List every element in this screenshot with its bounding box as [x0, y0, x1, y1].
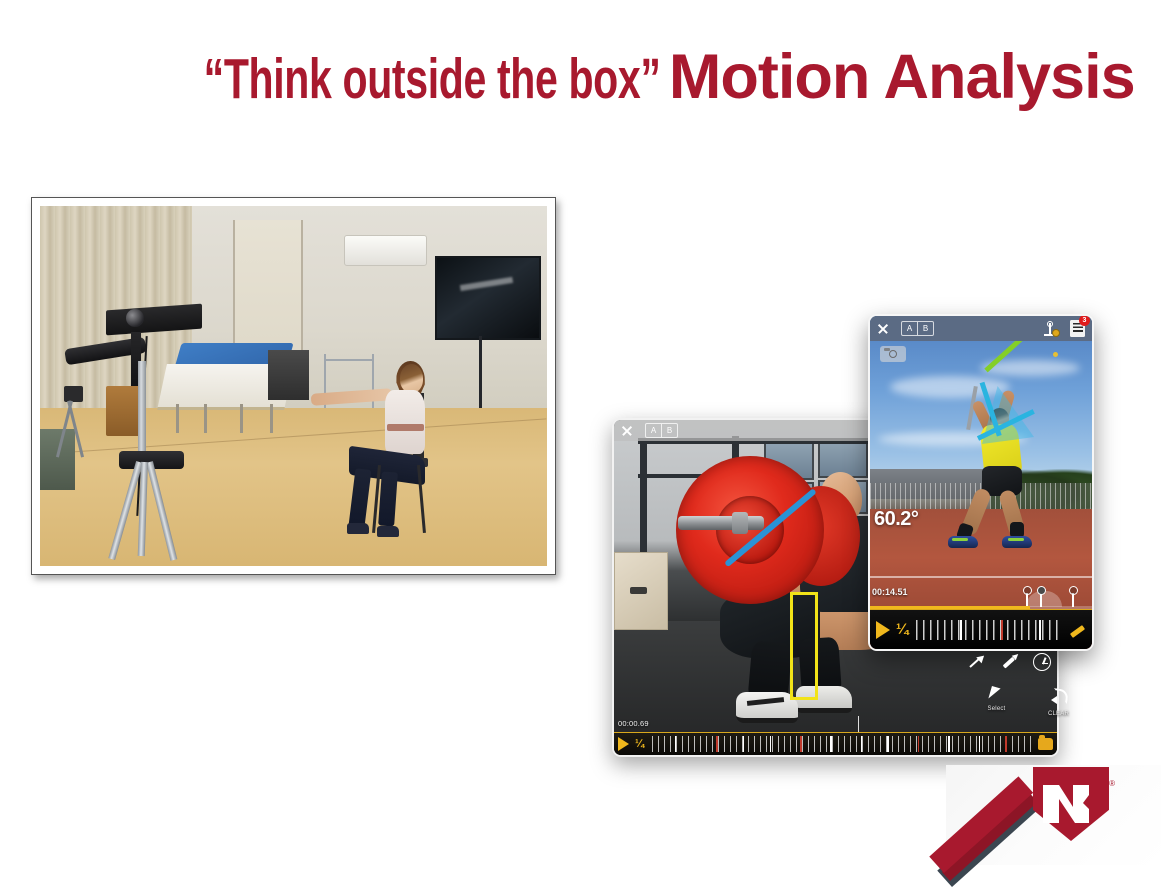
lifter-shoe [736, 692, 798, 723]
title-main-part: Motion Analysis [669, 46, 1135, 109]
ab-compare-toggle[interactable]: A B [901, 321, 934, 336]
pencil-icon[interactable] [1069, 623, 1086, 637]
squat-speed-label[interactable]: ¼ [635, 738, 644, 750]
barbell-collar [732, 512, 748, 534]
pen-tool[interactable] [997, 653, 1023, 671]
secondary-tripod [55, 386, 90, 458]
equipment-cabinet [268, 350, 309, 400]
squat-timestamp: 00:00.69 [618, 719, 649, 728]
track-lane-line [870, 576, 1092, 578]
clear-tool-label: CLEAR [1039, 711, 1079, 717]
arrow-tool[interactable] [964, 653, 990, 671]
ab-compare-toggle[interactable]: A B [645, 423, 678, 438]
tool-palette-row-primary [958, 653, 1094, 671]
notification-badge: 3 [1079, 315, 1090, 326]
air-conditioner [344, 235, 427, 266]
cursor-icon [990, 687, 1004, 704]
angle-measurement-readout: 60.2° [874, 508, 918, 531]
cloud [890, 376, 1010, 398]
angle-tool[interactable] [1029, 653, 1055, 671]
running-analysis-window[interactable]: 60.2° 00:14.51 A B 3 [868, 314, 1094, 651]
participant-shoe [377, 526, 399, 537]
participant-head [400, 364, 423, 393]
notes-document-icon[interactable]: 3 [1070, 320, 1085, 337]
tool-palette-row-secondary: Select CLEAR [958, 687, 1094, 717]
university-logo: ® [946, 765, 1161, 865]
close-icon[interactable] [621, 425, 633, 437]
video-analysis-app-stack: A B Squat 00:00.69 ¼ [606, 310, 1106, 765]
ab-toggle-b[interactable]: B [918, 322, 933, 335]
running-timeline-ruler[interactable] [916, 620, 1063, 640]
trademark-symbol: ® [1109, 779, 1115, 788]
yellow-selection-box-annotation[interactable] [790, 592, 818, 700]
squat-playhead[interactable] [858, 716, 860, 732]
runner-shoe [1002, 536, 1032, 548]
select-tool-label: Select [974, 706, 1020, 712]
motion-capture-lab-photo [40, 206, 547, 566]
sky-marker-dot [1053, 352, 1058, 357]
angle-tool-icon [1033, 653, 1051, 671]
participant-shoe [347, 523, 369, 534]
ab-toggle-a[interactable]: A [902, 322, 918, 335]
camera-icon[interactable] [880, 346, 906, 362]
pen-tool-icon [1001, 653, 1019, 671]
logo-n-letter [1039, 783, 1103, 831]
running-timeline-bar[interactable]: ¼ [870, 609, 1092, 649]
squat-timeline-ruler[interactable] [652, 736, 1032, 752]
play-icon[interactable] [876, 621, 890, 639]
page-title: “Think outside the box”Motion Analysis [0, 46, 1161, 109]
ab-toggle-b[interactable]: B [662, 424, 677, 437]
ab-toggle-a[interactable]: A [646, 424, 662, 437]
marker-pin[interactable] [1026, 593, 1028, 607]
participant-belt [387, 424, 425, 431]
running-video-frame[interactable]: 60.2° 00:14.51 [870, 316, 1092, 649]
running-window-titlebar: A B 3 [870, 316, 1092, 341]
camera-lens [126, 309, 144, 327]
exam-bed-legs [172, 404, 278, 433]
marker-pin[interactable] [1040, 593, 1042, 607]
arrow-tool-icon [968, 653, 986, 671]
folder-icon[interactable] [1038, 738, 1053, 750]
select-tool[interactable]: Select [974, 687, 1020, 712]
close-icon[interactable] [877, 323, 889, 335]
title-quoted-part: “Think outside the box” [204, 51, 661, 108]
barbell-sleeve [678, 516, 764, 530]
undo-icon [1051, 687, 1067, 703]
play-icon[interactable] [618, 737, 629, 751]
red-weight-plate [676, 456, 824, 604]
tripod-column [138, 361, 146, 455]
participant-torso [385, 390, 426, 455]
measure-tool-icon[interactable] [1044, 321, 1060, 337]
marker-pin[interactable] [1072, 593, 1074, 607]
squat-timeline-bar[interactable]: ¼ [614, 732, 1057, 755]
clear-tool[interactable]: CLEAR [1039, 687, 1079, 717]
annotation-tool-palette[interactable]: Select CLEAR [958, 653, 1094, 728]
running-timestamp: 00:14.51 [872, 587, 908, 597]
running-speed-label[interactable]: ¼ [896, 621, 908, 638]
lab-photo-frame [31, 197, 556, 575]
wall-monitor [435, 256, 540, 339]
plyo-box [614, 552, 668, 630]
runner-shoe [948, 536, 978, 548]
track-marker-pins[interactable] [1016, 585, 1082, 607]
